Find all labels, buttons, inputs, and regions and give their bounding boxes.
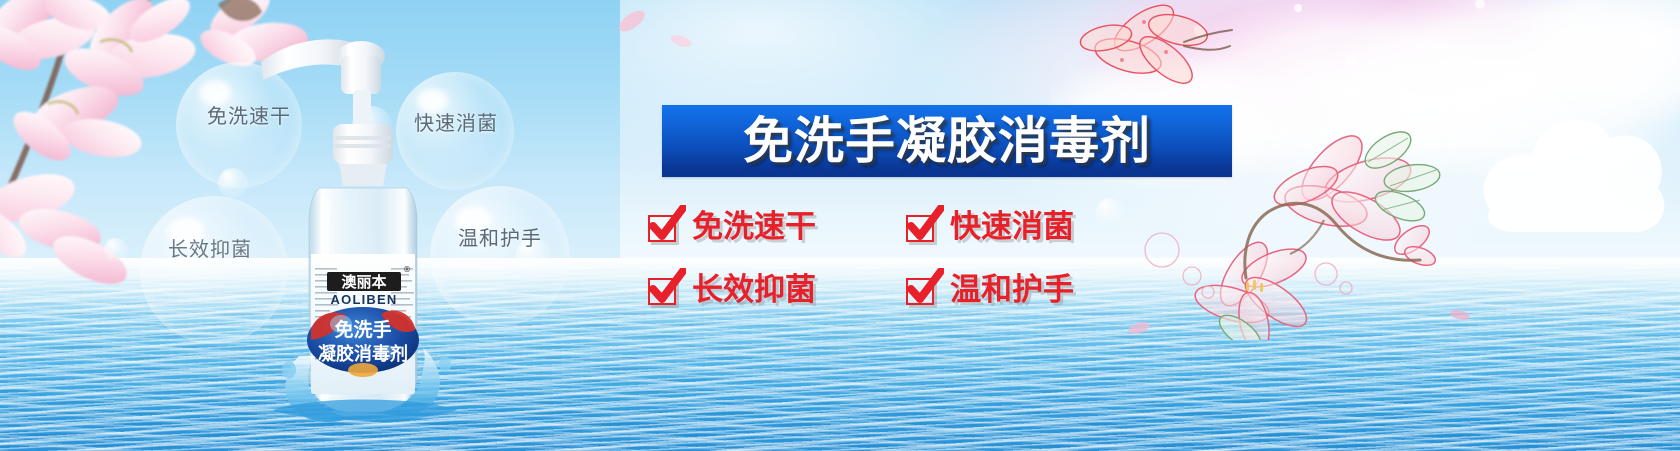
white-cloud-decor xyxy=(1460,60,1680,270)
bubble-caption-2: 快速消菌 xyxy=(414,107,498,136)
bottle-brand-cn: 澳丽本 xyxy=(341,273,386,291)
bubble-caption-1: 免洗速干 xyxy=(207,100,291,129)
checkbox-checked-icon xyxy=(648,276,678,306)
feature-label: 免洗速干 xyxy=(692,212,816,243)
falling-petal-icon xyxy=(615,4,649,38)
feature-item-3: 长效抑菌 xyxy=(648,259,906,322)
trademark-symbol: ® xyxy=(403,265,411,274)
bottle-label-line2: 凝胶消毒剂 xyxy=(318,343,408,365)
falling-petal-icon xyxy=(668,28,694,54)
feature-label: 温和护手 xyxy=(950,275,1074,306)
falling-petal-icon xyxy=(1448,306,1472,324)
bottle-brand-en: AOLIBEN xyxy=(331,292,398,307)
bottle-label-line1: 免洗手 xyxy=(334,318,391,341)
checkbox-checked-icon xyxy=(648,213,678,243)
feature-list: 免洗速干 快速消菌 长效抑菌 xyxy=(648,196,1168,322)
checkbox-checked-icon xyxy=(906,276,936,306)
bubble-caption-4: 温和护手 xyxy=(458,222,542,251)
bubble-caption-3: 长效抑菌 xyxy=(168,233,252,262)
feature-label: 长效抑菌 xyxy=(692,275,816,306)
promo-banner: 澳丽本 ® AOLIBEN 免洗手 凝胶消毒剂 免洗速干 快速消菌 长效抑菌 xyxy=(0,0,1680,451)
page-title: 免洗手凝胶消毒剂 xyxy=(743,116,1151,166)
feature-item-1: 免洗速干 xyxy=(648,196,906,259)
butterfly-flower-icon xyxy=(1060,0,1250,112)
product-bottle: 澳丽本 ® AOLIBEN 免洗手 凝胶消毒剂 xyxy=(255,18,475,428)
feature-label: 快速消菌 xyxy=(950,212,1074,243)
checkbox-checked-icon xyxy=(906,213,936,243)
